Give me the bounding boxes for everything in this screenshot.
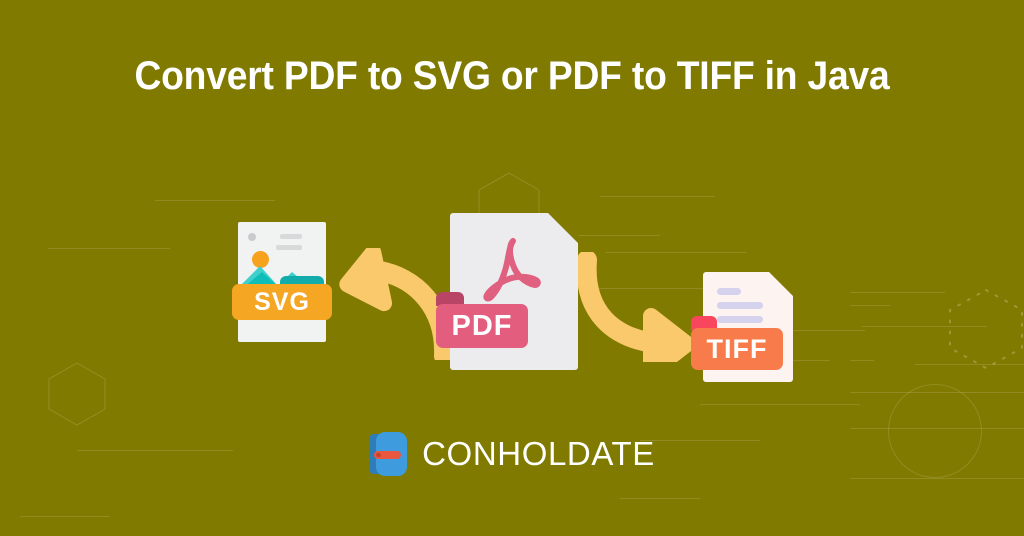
deco-line	[850, 392, 1024, 393]
tiff-format-ribbon: TIFF	[691, 328, 783, 370]
conholdate-mark-icon	[369, 432, 411, 476]
svg-format-ribbon: SVG	[232, 284, 332, 320]
svg-dot-decor	[248, 233, 256, 241]
pdf-fold-cut	[548, 213, 578, 243]
deco-line	[155, 200, 275, 201]
deco-line	[850, 360, 874, 361]
svg-text-line	[276, 245, 302, 250]
svg-text-line	[280, 234, 302, 239]
deco-line	[915, 364, 1024, 365]
pdf-format-ribbon: PDF	[436, 304, 528, 348]
brand-logo: CONHOLDATE	[0, 432, 1024, 476]
pdf-file-icon: PDF	[450, 213, 578, 370]
page-title: Convert PDF to SVG or PDF to TIFF in Jav…	[36, 50, 988, 102]
curved-arrow-right-icon	[575, 252, 700, 362]
deco-line	[862, 326, 987, 327]
deco-line	[850, 292, 945, 293]
brand-name: CONHOLDATE	[422, 435, 655, 473]
deco-line	[600, 196, 715, 197]
hexagon-outline-right	[948, 288, 1024, 370]
promo-banner: Convert PDF to SVG or PDF to TIFF in Jav…	[0, 0, 1024, 536]
adobe-acrobat-a-icon	[480, 235, 550, 305]
tiff-text-line	[717, 302, 763, 309]
deco-line	[20, 516, 110, 517]
tiff-file-icon: TIFF	[703, 272, 793, 382]
hexagon-outline-left	[48, 362, 106, 426]
deco-line	[620, 498, 700, 499]
tiff-fold-cut	[769, 272, 793, 296]
deco-line	[850, 428, 1024, 429]
deco-line	[850, 478, 1024, 479]
svg-file-icon: SVG	[238, 222, 326, 342]
deco-line	[850, 305, 890, 306]
tiff-text-line	[717, 316, 763, 323]
tiff-text-line	[717, 288, 741, 295]
deco-line	[48, 248, 170, 249]
deco-line	[700, 404, 860, 405]
